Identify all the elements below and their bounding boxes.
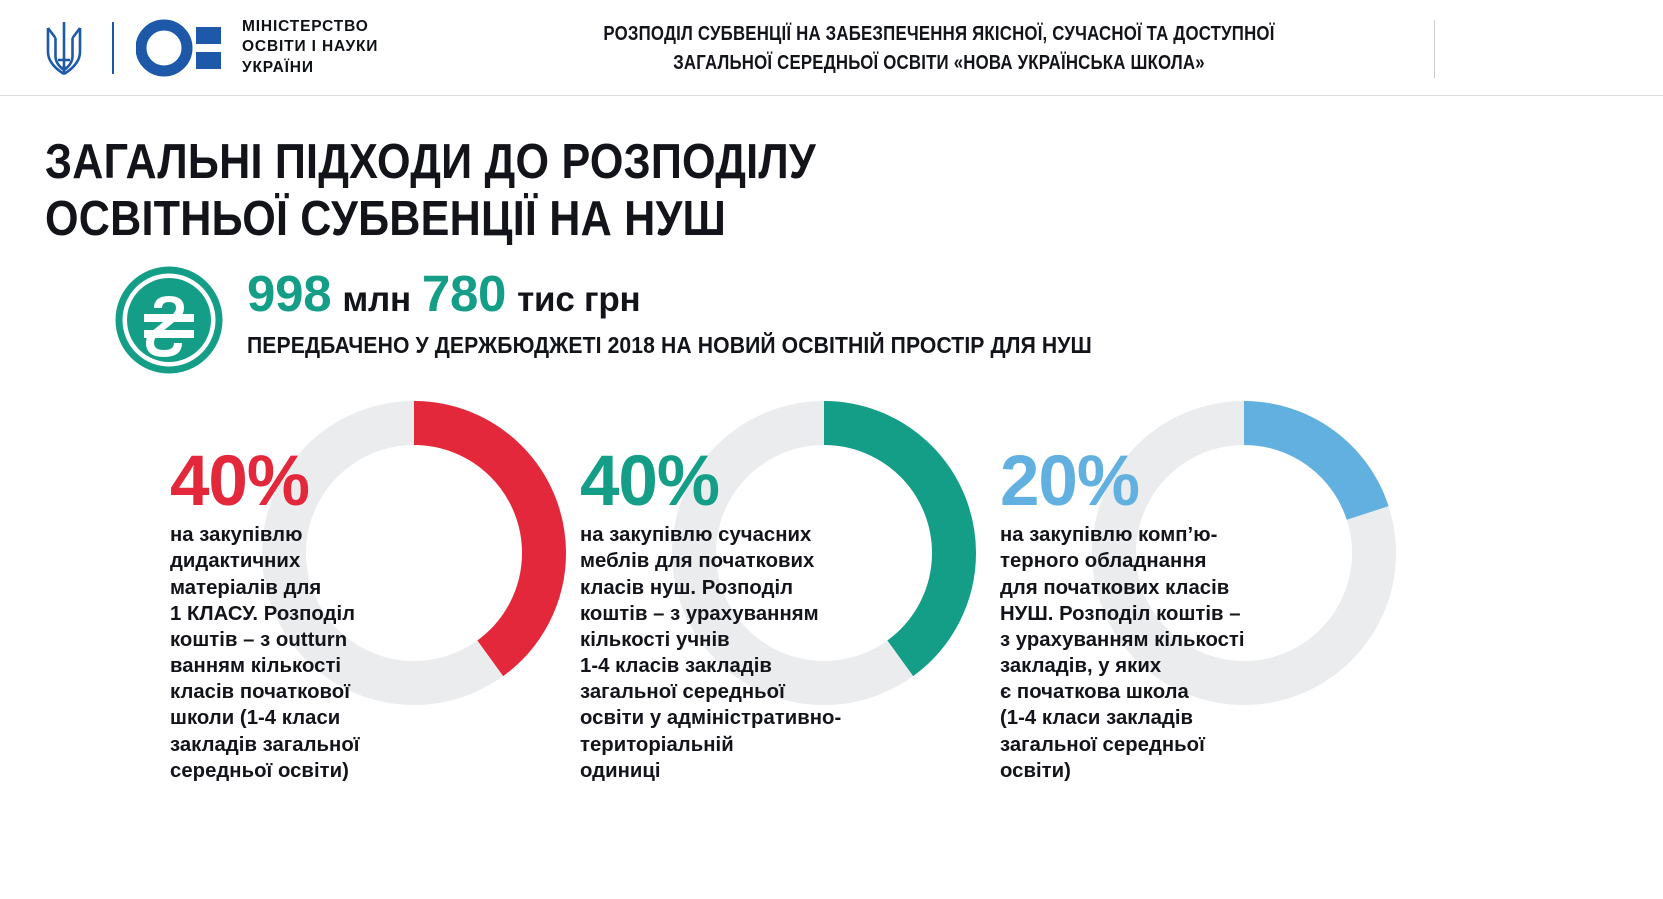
allocation-description-line: з урахуванням кількості (1000, 627, 1270, 653)
amount-thousands-unit: тис грн (517, 282, 640, 317)
allocation-card: 40% на закупівлюдидактичнихматеріалів дл… (170, 393, 575, 893)
allocation-description-line: на закупівлю сучасних (580, 522, 850, 548)
page-title-line-1: ЗАГАЛЬНІ ПІДХОДИ ДО РОЗПОДІЛУ (45, 134, 816, 191)
page-title: ЗАГАЛЬНІ ПІДХОДИ ДО РОЗПОДІЛУ ОСВІТНЬОЇ … (45, 134, 921, 248)
percent-value: 20% (1000, 448, 1270, 516)
allocation-description-line: меблів для початкових (580, 548, 850, 574)
percent-value: 40% (580, 448, 850, 516)
allocation-description-line: класів початкової (170, 679, 440, 705)
amount-millions: 998 (247, 268, 331, 319)
allocation-description-line: загальної середньої (580, 679, 850, 705)
header-title-line-1: РОЗПОДІЛ СУБВЕНЦІЇ НА ЗАБЕЗПЕЧЕННЯ ЯКІСН… (522, 18, 1357, 47)
allocation-description-line: є початкова школа (1000, 679, 1270, 705)
allocation-description-line: закладів загальної (170, 732, 440, 758)
allocation-description-line: освіти) (1000, 758, 1270, 784)
allocation-card-body: 40% на закупівлюдидактичнихматеріалів дл… (170, 448, 440, 784)
allocation-description-line: дидактичних (170, 548, 440, 574)
page-title-line-2: ОСВІТНЬОЇ СУБВЕНЦІЇ НА НУШ (45, 191, 816, 248)
budget-summary: 998 млн 780 тис грн ПЕРЕДБАЧЕНО У ДЕРЖБЮ… (113, 264, 1186, 376)
allocation-card: 40% на закупівлю сучаснихмеблів для поча… (580, 393, 985, 893)
hryvnia-coin-icon (113, 264, 225, 376)
allocation-description-line: середньої освіти) (170, 758, 440, 784)
allocation-description-line: загальної середньої (1000, 732, 1270, 758)
allocation-description-line: на закупівлю комп’ю- (1000, 522, 1270, 548)
allocation-description-line: коштів – з урахуванням (580, 601, 850, 627)
amount-millions-unit: млн (342, 282, 411, 317)
allocation-description-line: коштів – з outturn (170, 627, 440, 653)
allocation-description-line: кількості учнів (580, 627, 850, 653)
allocation-description-line: (1-4 класи закладів (1000, 705, 1270, 731)
allocation-description-line: одиниці (580, 758, 850, 784)
header-right-divider (1434, 20, 1435, 78)
allocation-description-line: територіальній (580, 732, 850, 758)
allocation-description-line: класів нуш. Розподіл (580, 575, 850, 601)
allocation-description-line: для початкових класів (1000, 575, 1270, 601)
ukraine-trident-icon (40, 16, 88, 80)
ministry-name-line-3: УКРАЇНИ (242, 58, 378, 79)
allocation-card-body: 40% на закупівлю сучаснихмеблів для поча… (580, 448, 850, 784)
allocation-description-line: на закупівлю (170, 522, 440, 548)
allocation-card-body: 20% на закупівлю комп’ю-терного обладнан… (1000, 448, 1270, 784)
allocation-description-line: ванням кількості (170, 653, 440, 679)
allocation-description: на закупівлю комп’ю-терного обладнаннядл… (1000, 522, 1270, 784)
header-title: РОЗПОДІЛ СУБВЕНЦІЇ НА ЗАБЕЗПЕЧЕННЯ ЯКІСН… (430, 18, 1448, 76)
allocation-description: на закупівлю сучаснихмеблів для початков… (580, 522, 850, 784)
header-title-line-2: ЗАГАЛЬНОЇ СЕРЕДНЬОЇ ОСВІТИ «НОВА УКРАЇНС… (522, 48, 1357, 77)
allocation-description-line: закладів, у яких (1000, 653, 1270, 679)
ministry-name: МІНІСТЕРСТВО ОСВІТИ І НАУКИ УКРАЇНИ (242, 17, 378, 79)
budget-amount: 998 млн 780 тис грн (247, 268, 1186, 319)
allocation-description-line: школи (1-4 класи (170, 705, 440, 731)
allocation-description: на закупівлюдидактичнихматеріалів для1 К… (170, 522, 440, 784)
ministry-name-line-2: ОСВІТИ І НАУКИ (242, 37, 378, 58)
page-header: МІНІСТЕРСТВО ОСВІТИ І НАУКИ УКРАЇНИ РОЗП… (0, 0, 1663, 96)
logo-divider (112, 22, 114, 74)
mon-circle-square-mark (136, 19, 242, 77)
allocation-description-line: терного обладнання (1000, 548, 1270, 574)
budget-subtitle: ПЕРЕДБАЧЕНО У ДЕРЖБЮДЖЕТІ 2018 НА НОВИЙ … (247, 332, 1186, 359)
percent-value: 40% (170, 448, 440, 516)
ministry-logo[interactable]: МІНІСТЕРСТВО ОСВІТИ І НАУКИ УКРАЇНИ (0, 16, 378, 80)
allocation-description-line: освіти у адміністративно- (580, 705, 850, 731)
allocation-cards: 40% на закупівлюдидактичнихматеріалів дл… (0, 393, 1663, 893)
ministry-name-line-1: МІНІСТЕРСТВО (242, 17, 378, 38)
allocation-description-line: 1 КЛАСУ. Розподіл (170, 601, 440, 627)
allocation-description-line: матеріалів для (170, 575, 440, 601)
allocation-card: 20% на закупівлю комп’ю-терного обладнан… (1000, 393, 1405, 893)
amount-thousands: 780 (422, 268, 506, 319)
allocation-description-line: НУШ. Розподіл коштів – (1000, 601, 1270, 627)
budget-amount-block: 998 млн 780 тис грн ПЕРЕДБАЧЕНО У ДЕРЖБЮ… (247, 264, 1186, 359)
allocation-description-line: 1-4 класів закладів (580, 653, 850, 679)
